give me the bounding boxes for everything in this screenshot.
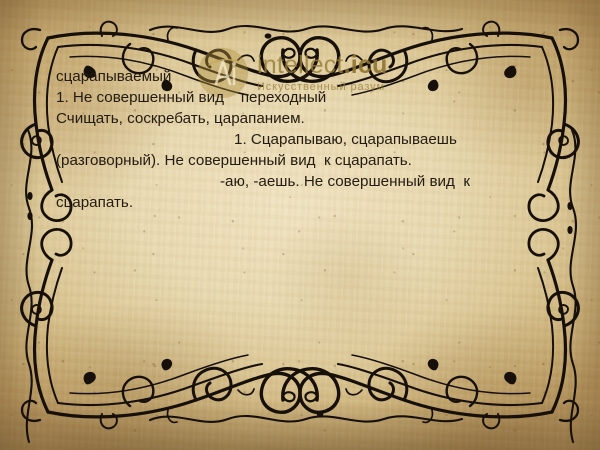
article-line-2: Счищать, соскребать, царапанием. — [56, 108, 556, 129]
headword: сцарапываемый — [56, 66, 556, 87]
article-line-5: -аю, -аешь. Не совершенный вид к — [56, 171, 556, 192]
parchment-page: intellect.icu Искусственный разум сцарап… — [0, 0, 600, 450]
article-line-1: 1. Не совершенный вид переходный — [56, 87, 556, 108]
dictionary-article: сцарапываемый 1. Не совершенный вид пере… — [56, 66, 556, 213]
article-line-6: сцарапать. — [56, 192, 556, 213]
article-line-3: 1. Сцарапываю, сцарапываешь — [56, 129, 556, 150]
article-line-4: (разговорный). Не совершенный вид к сцар… — [56, 150, 556, 171]
